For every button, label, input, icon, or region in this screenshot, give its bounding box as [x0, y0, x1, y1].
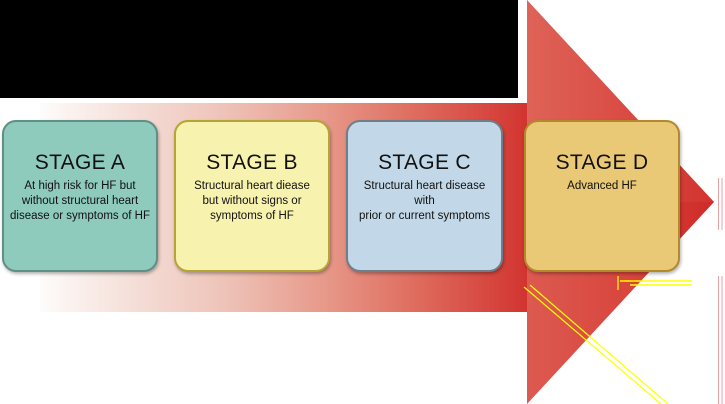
stage-b-description: Structural heart diease but without sign…	[188, 179, 316, 224]
stage-box-a[interactable]: STAGE A At high risk for HF but without …	[2, 120, 158, 272]
stage-a-description-line: disease or symptoms of HF	[10, 209, 150, 224]
stage-b-description-line: but without signs or	[194, 194, 310, 209]
black-overlay-rect	[0, 0, 518, 98]
stage-a-description-line: without structural heart	[10, 194, 150, 209]
stage-a-description: At high risk for HF but without structur…	[4, 179, 156, 224]
stage-c-title: STAGE C	[378, 152, 471, 174]
stage-b-description-line: symptoms of HF	[194, 209, 310, 224]
stage-b-description-line: Structural heart diease	[194, 179, 310, 194]
stage-c-description-line: Structural heart disease with	[354, 179, 495, 209]
stage-b-title: STAGE B	[206, 152, 298, 174]
stage-a-description-line: At high risk for HF but	[10, 179, 150, 194]
stage-box-d[interactable]: STAGE D Advanced HF	[524, 120, 680, 272]
stage-box-c[interactable]: STAGE C Structural heart disease with pr…	[346, 120, 503, 272]
stage-d-description: Advanced HF	[561, 179, 643, 194]
stage-c-description-line: prior or current symptoms	[354, 209, 495, 224]
stage-a-title: STAGE A	[35, 152, 125, 174]
diagram-canvas: STAGE A At high risk for HF but without …	[0, 0, 725, 404]
stage-d-description-line: Advanced HF	[567, 179, 637, 194]
stage-c-description: Structural heart disease with prior or c…	[348, 179, 501, 224]
stage-d-title: STAGE D	[556, 152, 649, 174]
stage-box-b[interactable]: STAGE B Structural heart diease but with…	[174, 120, 330, 272]
